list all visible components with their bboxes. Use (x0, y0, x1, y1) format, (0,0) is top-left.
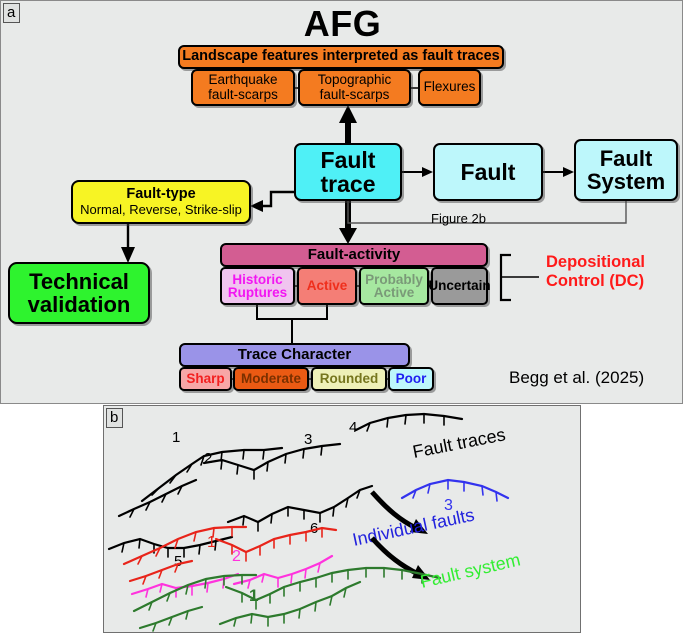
fault-trace-box: Fault trace (294, 143, 402, 201)
individual-fault-number-1: 1 (207, 534, 216, 551)
panel-b-fault-map: 1 2 3 4 5 6 Fault traces (104, 406, 582, 634)
activity-active-box: Active (297, 267, 357, 305)
individual-faults-label: Individual faults (351, 505, 477, 550)
trace-character-sharp-box: Sharp (179, 367, 232, 391)
fault-system-line2: System (587, 169, 665, 194)
fault-trace-line2: trace (321, 171, 376, 197)
dep-control-line2: Control (DC) (546, 272, 644, 290)
topo-scarps-line1: Topographic (318, 72, 392, 87)
earthquake-fault-scarps-box: Earthquake fault-scarps (191, 69, 295, 106)
individual-fault-blue (402, 480, 508, 501)
fault-system-label: Fault system (418, 549, 522, 591)
technical-validation-line2: validation (28, 292, 131, 317)
fault-box: Fault (433, 143, 543, 201)
individual-fault-number-2: 2 (232, 548, 241, 565)
technical-validation-box: Technical validation (8, 262, 150, 324)
topo-scarps-line2: fault-scarps (320, 87, 390, 102)
flexures-box: Flexures (418, 69, 481, 106)
eq-scarps-line2: fault-scarps (208, 87, 278, 102)
dep-control-line1: Depositional (546, 253, 645, 271)
figure-2b-reference-label: Figure 2b (431, 211, 486, 226)
activity-historic-ruptures-box: Historic Ruptures (220, 267, 295, 305)
trace-number-5: 5 (174, 553, 182, 570)
fault-system-number-1: 1 (249, 586, 258, 605)
fault-type-detail: Normal, Reverse, Strike-slip (80, 203, 242, 217)
figure-title: AFG (1, 3, 684, 45)
fault-system-green (134, 568, 440, 631)
trace-character-rounded-box: Rounded (311, 367, 387, 391)
fault-type-header: Fault-type (126, 187, 195, 202)
technical-validation-line1: Technical (29, 269, 129, 294)
historic-line2: Ruptures (228, 285, 287, 300)
depositional-control-label: Depositional Control (DC) (546, 253, 645, 291)
trace-character-moderate-box: Moderate (233, 367, 309, 391)
eq-scarps-line1: Earthquake (208, 72, 277, 87)
fault-system-line1: Fault (600, 146, 653, 171)
panel-b: b (103, 405, 581, 633)
trace-number-3: 3 (304, 431, 312, 448)
citation-label: Begg et al. (2025) (509, 368, 644, 388)
fault-system-box: Fault System (574, 139, 678, 201)
fault-activity-header: Fault-activity (220, 243, 488, 267)
topographic-fault-scarps-box: Topographic fault-scarps (298, 69, 411, 106)
trace-character-poor-box: Poor (388, 367, 434, 391)
landscape-features-header: Landscape features interpreted as fault … (178, 45, 504, 69)
trace-number-2: 2 (204, 450, 212, 467)
trace-character-header: Trace Character (179, 343, 410, 367)
panel-a: a AFG (0, 0, 683, 404)
activity-uncertain-box: Uncertain (431, 267, 488, 305)
activity-probably-active-box: Probably Active (359, 267, 429, 305)
fault-traces-label: Fault traces (411, 424, 507, 462)
trace-number-4: 4 (349, 419, 357, 436)
fault-type-box: Fault-type Normal, Reverse, Strike-slip (71, 180, 251, 224)
fault-trace-line1: Fault (321, 147, 376, 173)
probably-line2: Active (374, 285, 415, 300)
trace-number-1: 1 (172, 429, 180, 446)
